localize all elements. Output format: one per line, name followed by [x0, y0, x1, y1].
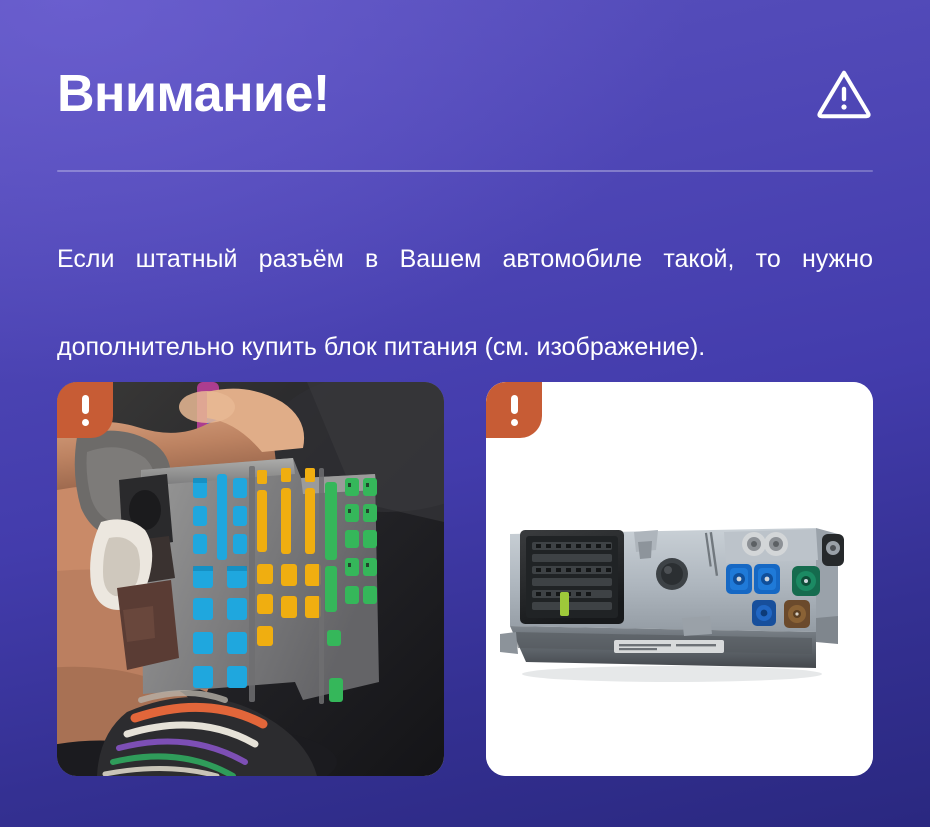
body-copy: Если штатный разъём в Вашем автомобиле т…	[57, 237, 873, 369]
header: Внимание!	[57, 48, 873, 140]
card-oem-connector[interactable]	[57, 382, 444, 776]
exclamation-badge-icon	[57, 382, 113, 438]
page-title: Внимание!	[57, 68, 330, 120]
exclamation-glyph	[82, 395, 89, 426]
oem-connector-photo	[57, 382, 444, 776]
warning-slide: Внимание! Если штатный разъём в Вашем ав…	[0, 0, 930, 827]
exclamation-glyph	[511, 395, 518, 426]
body-line-2: дополнительно купить блок питания (см. и…	[57, 325, 873, 369]
power-supply-unit-photo	[486, 382, 873, 776]
header-divider	[57, 170, 873, 172]
body-line-1: Если штатный разъём в Вашем автомобиле т…	[57, 237, 873, 325]
warning-triangle-icon	[815, 65, 873, 123]
card-power-supply-unit[interactable]	[486, 382, 873, 776]
exclamation-badge-icon	[486, 382, 542, 438]
photo-card-row	[57, 382, 873, 776]
